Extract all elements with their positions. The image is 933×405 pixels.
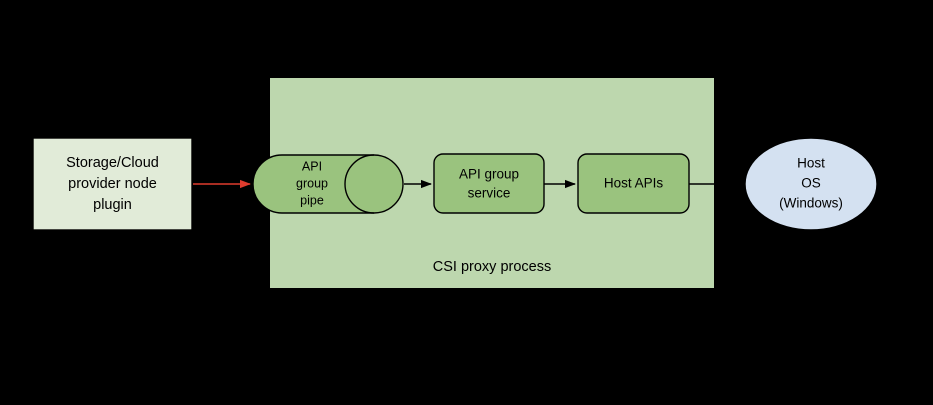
node-storage-cloud-provider-node-plugin[interactable]: Storage/Cloud provider node plugin <box>33 138 192 230</box>
host-os-label-line-1: Host <box>797 156 825 171</box>
architecture-diagram: CSI proxy process Storage/Cloud provider… <box>0 0 933 405</box>
node-plugin-label-line-3: plugin <box>93 197 132 213</box>
node-api-group-service[interactable]: API group service <box>434 154 544 213</box>
api-group-pipe-body <box>253 155 403 213</box>
container-label: CSI proxy process <box>433 259 551 275</box>
node-plugin-label-line-2: provider node <box>68 176 157 192</box>
api-group-service-shape <box>434 154 544 213</box>
host-os-label-line-3: (Windows) <box>779 196 843 211</box>
api-group-service-label-line-1: API group <box>459 167 519 182</box>
node-host-apis[interactable]: Host APIs <box>578 154 689 213</box>
host-os-label-line-2: OS <box>801 176 821 191</box>
diagram-canvas: CSI proxy process Storage/Cloud provider… <box>0 0 933 405</box>
host-apis-label: Host APIs <box>604 176 664 191</box>
api-group-pipe-label-line-3: pipe <box>300 193 324 207</box>
node-host-os[interactable]: Host OS (Windows) <box>745 138 877 230</box>
node-plugin-label-line-1: Storage/Cloud <box>66 155 159 171</box>
api-group-pipe-label-line-2: group <box>296 176 328 190</box>
api-group-pipe-label-line-1: API <box>302 159 322 173</box>
node-api-group-pipe[interactable]: API group pipe <box>253 155 403 213</box>
api-group-service-label-line-2: service <box>468 186 511 201</box>
